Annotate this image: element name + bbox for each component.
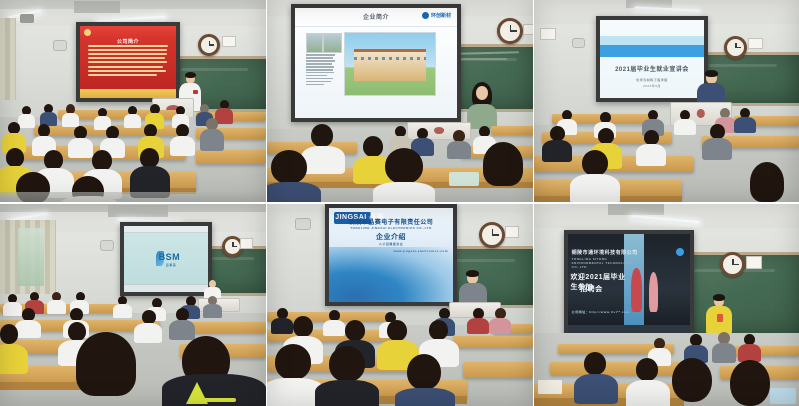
panel-top-middle: 企业简介 环创新材	[267, 0, 533, 202]
projector-screen: 企业简介 环创新材	[291, 4, 461, 122]
wall-notice	[505, 226, 519, 238]
wall-notice	[746, 256, 762, 269]
student-body	[447, 141, 471, 159]
student-head-foreground	[407, 354, 441, 390]
loudspeaker	[572, 38, 585, 48]
slide-footer-band	[80, 89, 176, 98]
slide-footer-url: 公司网址：http://www.tlst**.com	[572, 310, 645, 314]
wall-notice	[748, 38, 763, 49]
slide-thumbnail	[306, 33, 323, 53]
student-head	[345, 320, 365, 341]
student-head-foreground	[76, 332, 136, 396]
student-body-foreground	[395, 388, 455, 406]
slide-desktop-bsm: BSM 百事美	[124, 226, 208, 292]
ceiling-duct	[74, 1, 120, 13]
wall-clock	[724, 36, 747, 59]
student-body	[134, 323, 162, 343]
student-head	[429, 320, 448, 340]
slide-body-text	[306, 54, 335, 87]
student-booklet	[770, 388, 796, 404]
panel-top-left: 公司简介	[0, 0, 266, 202]
student-head	[710, 124, 725, 139]
student-body-foreground	[570, 174, 620, 202]
wall-notice	[523, 24, 533, 35]
presenter-head	[476, 86, 488, 100]
building-windows	[354, 57, 427, 60]
slide-body-text	[88, 45, 169, 79]
desk-row	[491, 126, 533, 135]
student-head-foreground	[385, 148, 423, 184]
wall-notice	[222, 36, 236, 47]
wall-clock	[497, 18, 523, 44]
slide-subtitle: 化学与材料工程学院	[600, 78, 704, 82]
walking-figure	[631, 268, 642, 312]
student-body	[18, 114, 35, 128]
slide-logo: 环创新材	[422, 12, 451, 19]
student-body	[3, 302, 22, 316]
student-body	[712, 343, 736, 363]
student-head-foreground	[730, 360, 770, 406]
student-head	[598, 128, 614, 144]
presenter-shirt-graphic	[717, 314, 723, 322]
task-bar[interactable]	[124, 284, 208, 292]
presenter-hair	[185, 72, 196, 78]
student-head	[293, 316, 313, 337]
projector-screen: 2021届毕业生就业宣讲会 化学与材料工程学院 2020年9月	[596, 16, 708, 102]
jacket-logo-text	[192, 398, 236, 402]
window-curtain	[0, 18, 16, 100]
presenter-hair	[713, 294, 725, 301]
projector	[20, 14, 34, 23]
company-logo-icon	[676, 248, 684, 256]
student-body	[301, 146, 345, 174]
student-head-foreground	[672, 358, 712, 402]
podium-crest	[697, 109, 705, 118]
walking-figure	[649, 272, 659, 312]
wall-notice	[540, 28, 556, 40]
window	[18, 228, 44, 286]
student-body	[636, 144, 666, 166]
projector-screen: 公司简介	[76, 22, 180, 102]
loudspeaker	[53, 40, 67, 51]
slide-company-en: TONGLING SITONG ENVIRONMENTAL TECHNOLOGY…	[572, 257, 640, 269]
slide-company-cn: 铜陵市通环境科技有限公司	[572, 249, 640, 256]
slide-band-light	[600, 36, 704, 45]
wall-clock	[198, 34, 220, 56]
student-body	[574, 374, 618, 404]
slide-environmental-welcome: 铜陵市通环境科技有限公司 TONGLING SITONG ENVIRONMENT…	[568, 234, 690, 334]
student-body-foreground	[315, 380, 379, 406]
student-body	[467, 318, 489, 334]
student-body	[489, 318, 511, 334]
student-body-foreground	[267, 182, 321, 202]
student-head	[140, 148, 159, 168]
student-head	[387, 320, 407, 341]
student-body	[203, 304, 222, 318]
student-body	[323, 320, 345, 336]
student-head-foreground	[582, 150, 608, 176]
ceiling-beam	[0, 0, 266, 9]
slide-headline-2: 招聘会	[580, 284, 629, 294]
panel-bottom-middle: JINGSAI 晶赛 铜陵市晶赛电子有限责任公司 TONGLING JINGSA…	[267, 204, 533, 406]
student-body	[702, 138, 732, 160]
student-body	[271, 318, 293, 334]
student-head	[68, 322, 86, 341]
wall-clock	[479, 222, 505, 248]
student-booklet	[449, 172, 479, 186]
student-body	[62, 113, 79, 127]
presenter-shirt-logo	[193, 90, 198, 94]
student-head-foreground	[271, 150, 307, 184]
slide-logo-text: 环创新材	[431, 12, 451, 19]
foreground-blur	[0, 192, 266, 202]
slide-website: www.jingsai-electronics.com	[374, 249, 448, 253]
student-body-foreground	[373, 182, 435, 202]
student-body	[170, 136, 195, 156]
student-body	[200, 129, 224, 151]
slide-band-blue	[600, 45, 704, 57]
student-head	[644, 130, 659, 145]
chalk-writing	[459, 58, 507, 60]
presenter-hair	[466, 270, 479, 277]
slide-company-en: TONGLING JINGSAI ELECTRONICS CO.,LTD	[329, 226, 453, 230]
panel-bottom-right: 铜陵市通环境科技有限公司 TONGLING SITONG ENVIRONMENT…	[534, 204, 799, 406]
slide-company-profile: 公司简介	[80, 26, 176, 98]
slide-job-fair-title: 2021届毕业生就业宣讲会 化学与材料工程学院 2020年9月	[600, 20, 704, 98]
student-head	[363, 136, 383, 157]
desk-row	[453, 336, 533, 348]
student-body	[68, 138, 93, 158]
student-head-foreground	[750, 162, 784, 202]
wall-notice	[240, 238, 253, 249]
student-head	[92, 150, 112, 171]
desk-row	[463, 362, 533, 378]
student-head	[584, 352, 606, 375]
slide-title: 公司简介	[80, 38, 176, 45]
podium-crest	[434, 127, 444, 133]
window-title-bar	[124, 226, 208, 233]
desk-row	[186, 322, 266, 333]
student-head	[44, 150, 63, 170]
student-head	[0, 324, 18, 344]
slide-enterprise-intro: 企业简介 环创新材	[295, 8, 457, 118]
loudspeaker	[295, 218, 311, 230]
student-head-foreground	[329, 346, 365, 382]
slide-logo-subtext: 百事美	[129, 263, 212, 267]
student-head	[550, 126, 565, 141]
student-body	[542, 140, 572, 162]
student-head	[311, 124, 333, 147]
slide-background-graphic	[329, 247, 453, 302]
student-body	[626, 380, 670, 406]
factory-building	[354, 49, 427, 80]
student-head-foreground	[275, 344, 311, 380]
slide-jingsai-intro: JINGSAI 晶赛 铜陵市晶赛电子有限责任公司 TONGLING JINGSA…	[329, 208, 453, 302]
desk-paper	[538, 380, 562, 394]
slide-factory-photo	[344, 32, 437, 96]
panel-bottom-left: BSM 百事美	[0, 204, 266, 406]
company-logo-icon	[422, 12, 429, 19]
student-head	[6, 148, 24, 167]
projector-screen: 铜陵市通环境科技有限公司 TONGLING SITONG ENVIRONMENT…	[564, 230, 694, 338]
student-body	[0, 344, 28, 374]
wall-clock	[720, 252, 745, 277]
presenter-hair	[705, 70, 718, 77]
slide-logo-text: BSM	[127, 252, 211, 262]
projector-screen: BSM 百事美	[120, 222, 212, 296]
student-body	[124, 114, 141, 128]
slide-date: 2020年9月	[600, 84, 704, 88]
slide-thumbnail	[323, 33, 343, 53]
slide-header-band	[80, 26, 176, 38]
photo-collage: 公司简介	[0, 0, 799, 406]
student-body	[734, 117, 756, 133]
desk-row	[196, 150, 266, 164]
ceiling-duct	[108, 205, 168, 217]
student-body	[674, 119, 696, 135]
loudspeaker	[100, 240, 114, 251]
projector-screen: JINGSAI 晶赛 铜陵市晶赛电子有限责任公司 TONGLING JINGSA…	[325, 204, 457, 306]
student-body	[169, 320, 195, 340]
student-body	[15, 320, 41, 338]
company-logo-icon	[84, 29, 91, 36]
ceiling-duct	[608, 204, 664, 215]
student-body	[113, 304, 132, 318]
student-head-foreground	[483, 142, 523, 186]
slide-title: 2021届毕业生就业宣讲会	[600, 64, 704, 73]
slide-sub-headline: 人才招聘宣讲会	[329, 242, 453, 246]
student-body	[47, 300, 66, 314]
panel-top-right: 2021届毕业生就业宣讲会 化学与材料工程学院 2020年9月	[534, 0, 799, 202]
student-head	[636, 358, 658, 381]
student-head	[142, 310, 156, 324]
